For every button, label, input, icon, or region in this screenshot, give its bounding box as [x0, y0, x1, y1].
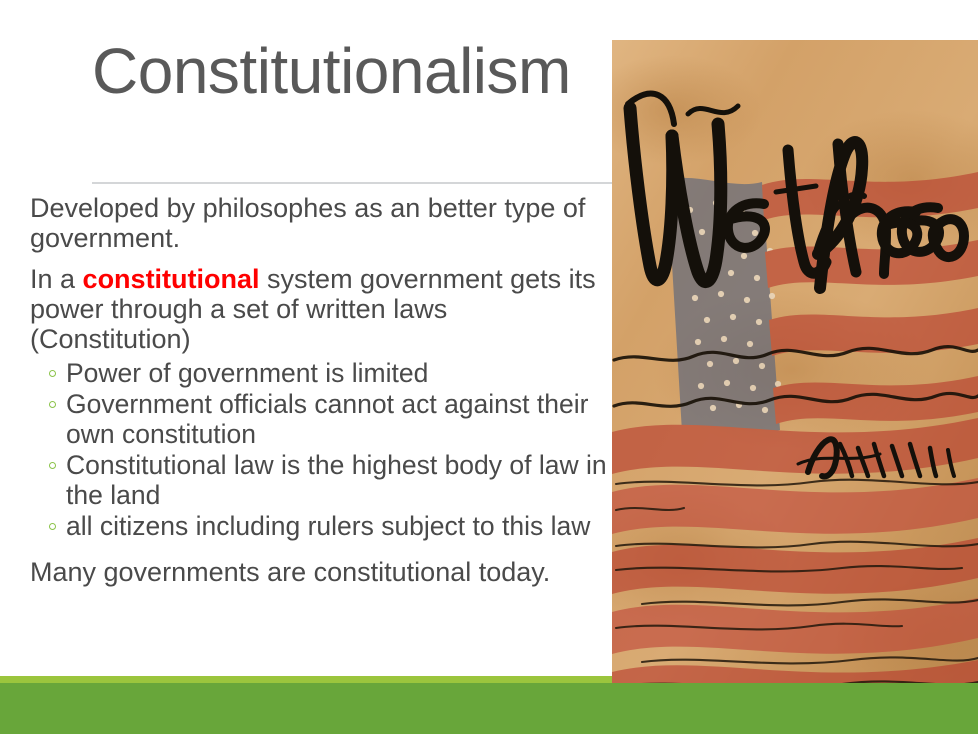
- slide-title: Constitutionalism: [92, 38, 612, 148]
- accent-band-light-green: [0, 676, 612, 683]
- list-item: Power of government is limited: [30, 358, 610, 388]
- hollow-circle-bullet-icon: [49, 370, 56, 377]
- body-paragraph-1: Developed by philosophes as an better ty…: [30, 193, 610, 253]
- list-item: Government officials cannot act against …: [30, 389, 610, 449]
- hollow-circle-bullet-icon: [49, 401, 56, 408]
- us-constitution-image: [612, 40, 978, 683]
- constitution-flag-artwork: [612, 40, 978, 683]
- accent-band-dark-green: [0, 683, 978, 734]
- list-item-label: Constitutional law is the highest body o…: [66, 450, 607, 510]
- hollow-circle-bullet-icon: [49, 462, 56, 469]
- slide-body-content: Developed by philosophes as an better ty…: [30, 193, 610, 598]
- hollow-circle-bullet-icon: [49, 523, 56, 530]
- presentation-slide: Constitutionalism Developed by philosoph…: [0, 0, 978, 734]
- list-item: all citizens including rulers subject to…: [30, 511, 610, 541]
- sub-bullet-list: Power of government is limited Governmen…: [30, 358, 610, 541]
- body-paragraph-2: In a constitutional system government ge…: [30, 264, 610, 354]
- body-paragraph-3: Many governments are constitutional toda…: [30, 557, 610, 587]
- title-divider-rule: [92, 182, 612, 184]
- list-item-label: Power of government is limited: [66, 358, 428, 388]
- highlighted-term-constitutional: constitutional: [83, 264, 260, 294]
- list-item-label: all citizens including rulers subject to…: [66, 511, 590, 541]
- list-item: Constitutional law is the highest body o…: [30, 450, 610, 510]
- list-item-label: Government officials cannot act against …: [66, 389, 588, 449]
- paragraph-2-prefix: In a: [30, 264, 83, 294]
